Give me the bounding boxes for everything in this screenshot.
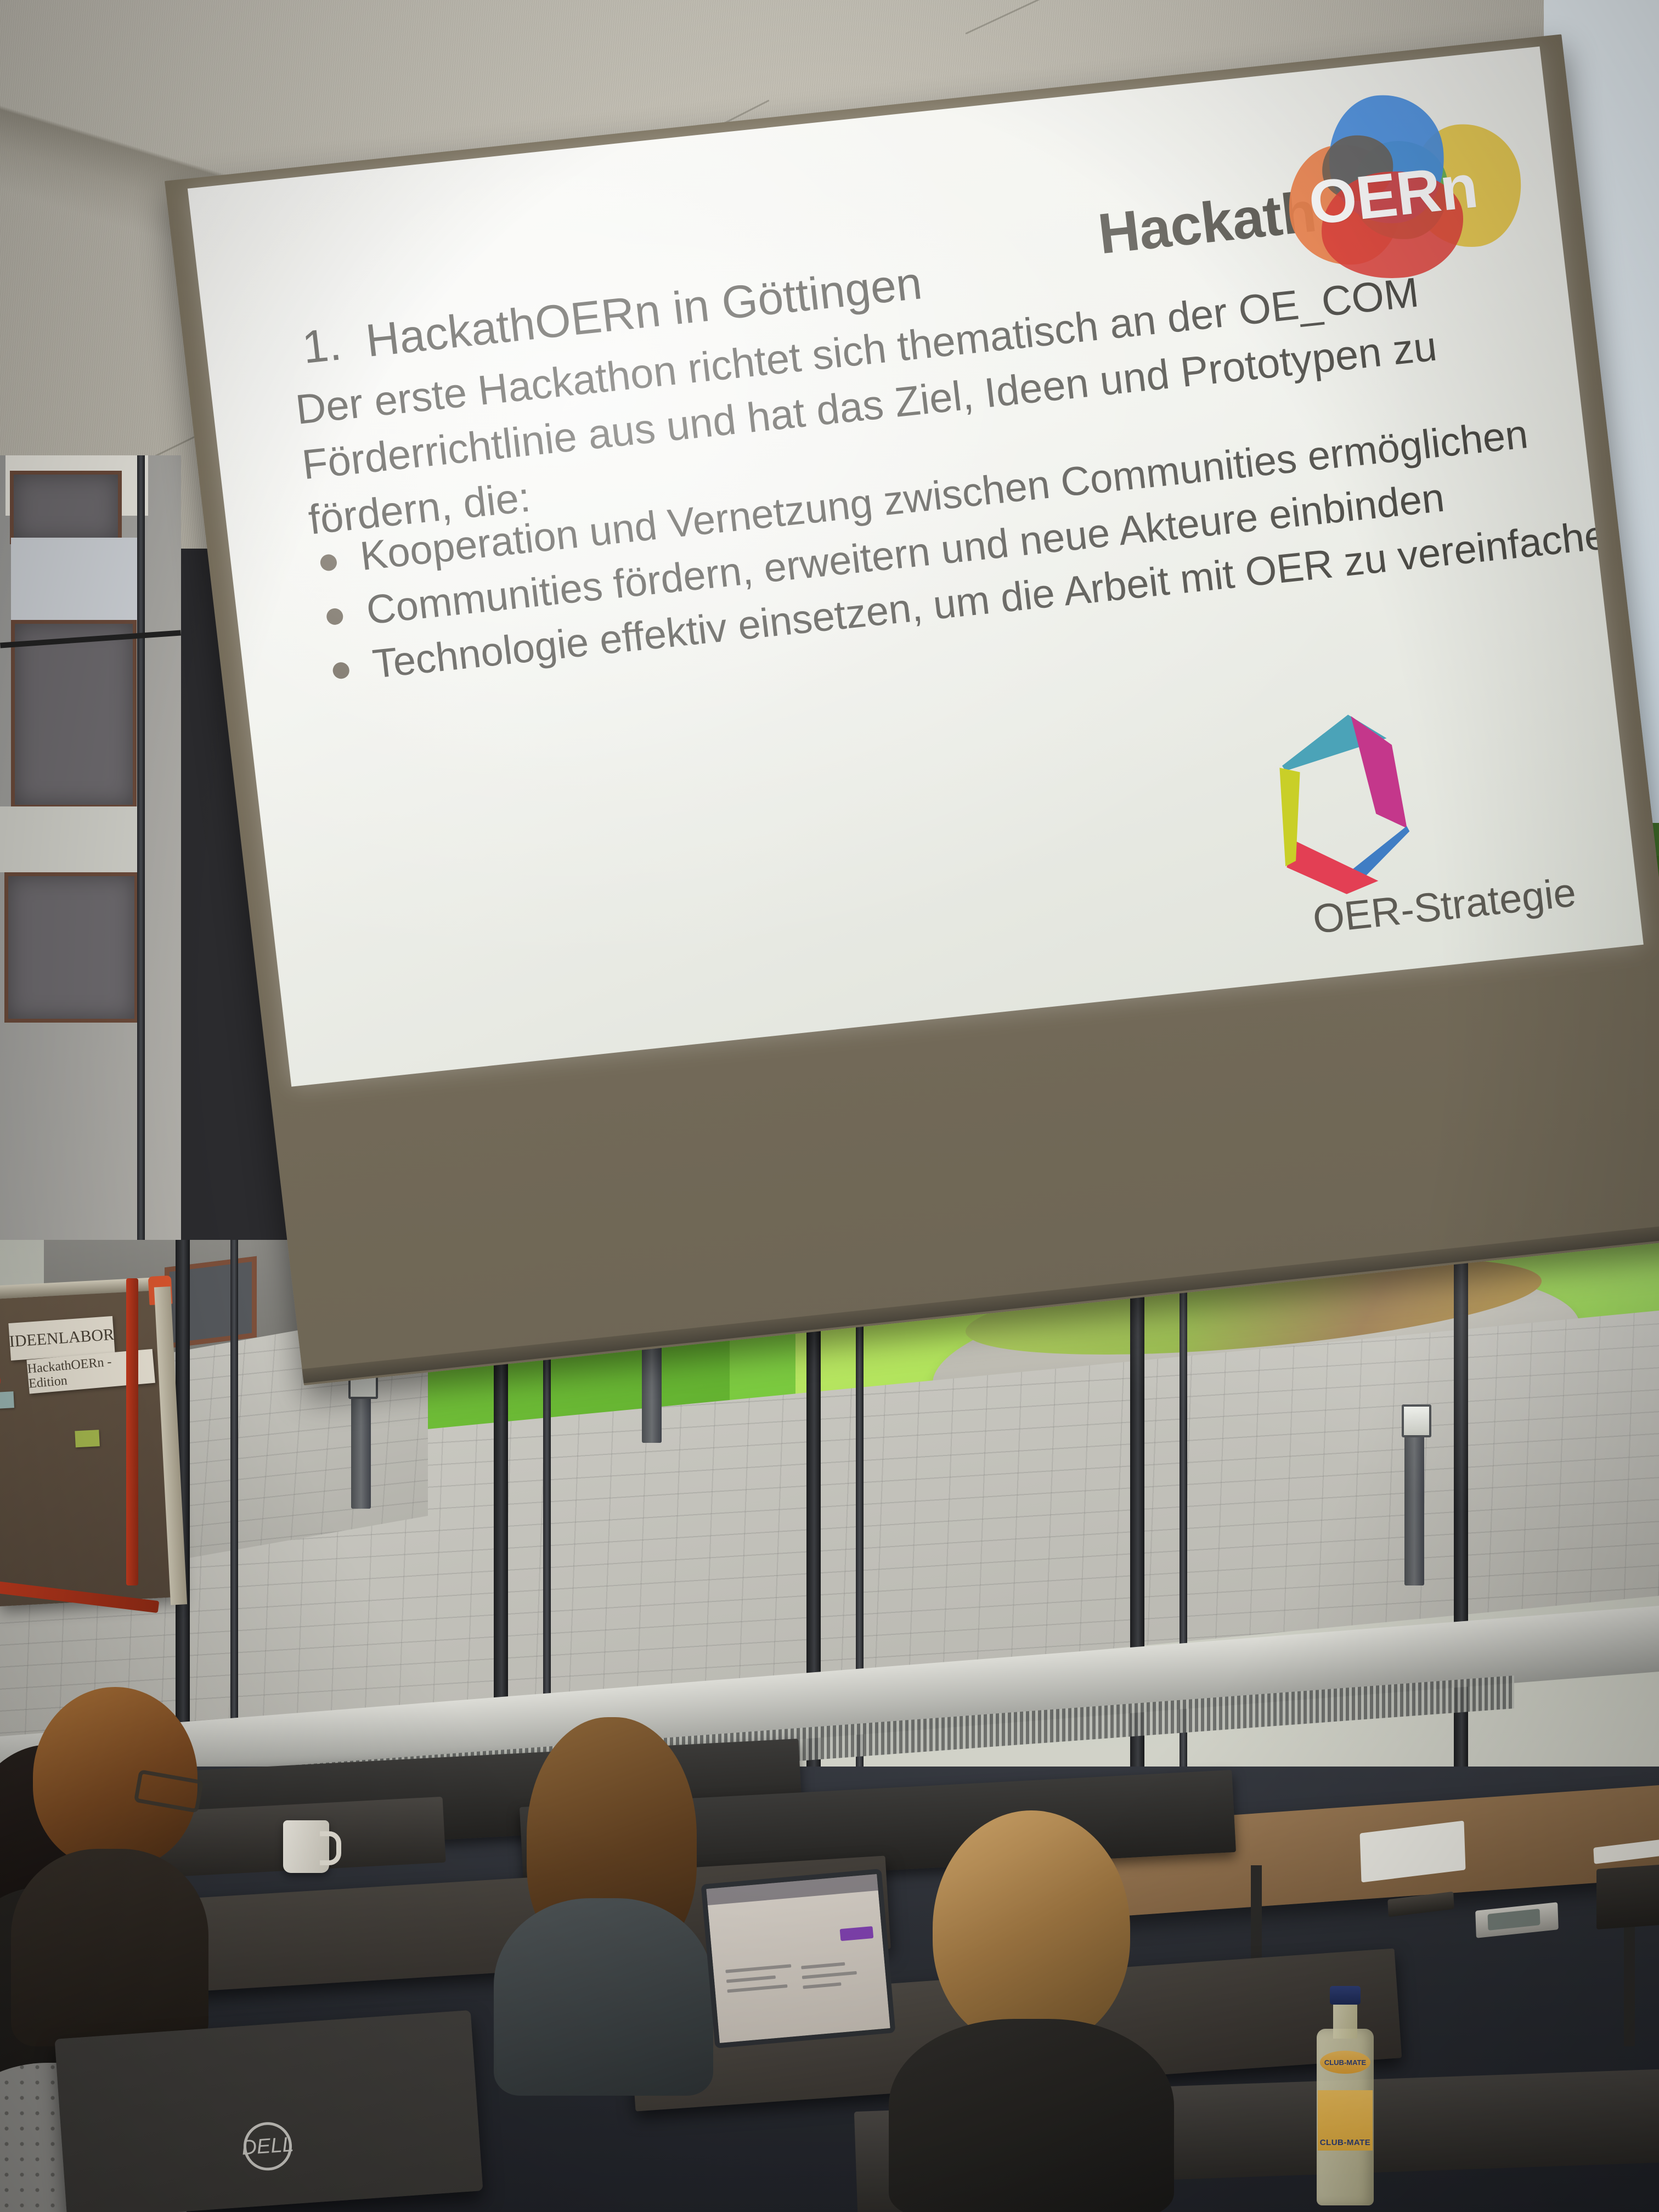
bottle-main-label: CLUB-MATE bbox=[1318, 2090, 1373, 2151]
oer-strategie-polygon bbox=[1244, 679, 1480, 902]
laptop-text-line bbox=[725, 1964, 791, 1973]
laptop-text-line bbox=[727, 1984, 787, 1993]
club-mate-bottle: CLUB-MATE CLUB-MATE bbox=[1317, 1986, 1374, 2205]
window-mullion bbox=[230, 1240, 238, 1788]
dell-logo: DELL bbox=[242, 2120, 294, 2172]
sticky-note bbox=[75, 1430, 100, 1447]
laptop-text-line bbox=[726, 1976, 776, 1983]
sticky-note bbox=[0, 1391, 14, 1409]
projected-slide-area: 1.HackathOERn in Göttingen Der erste Hac… bbox=[188, 47, 1644, 1087]
person-body-ponytail bbox=[494, 1898, 713, 2096]
closed-dell-laptop: DELL bbox=[54, 2010, 483, 2212]
laptop-text-line bbox=[801, 1962, 845, 1970]
open-laptop bbox=[701, 1869, 896, 2049]
hackathoern-logo: Hackath OERn bbox=[1085, 77, 1519, 284]
laptop-text-line bbox=[802, 1971, 857, 1979]
exterior-window-bottom bbox=[4, 872, 138, 1023]
person-body-with-glasses bbox=[11, 1849, 208, 2046]
flipchart-leg bbox=[126, 1278, 138, 1585]
bright-glass-panel bbox=[0, 806, 137, 872]
bottle-cap bbox=[1330, 1986, 1361, 2005]
window-mullion bbox=[137, 455, 145, 1333]
pinboard: IDEENLABOR HackathOERn - Edition bbox=[0, 1290, 178, 1607]
bottle-neck bbox=[1333, 2000, 1357, 2039]
presentation-slide: 1.HackathOERn in Göttingen Der erste Hac… bbox=[188, 47, 1644, 1087]
person-head-blond bbox=[933, 1810, 1130, 2046]
bollard-light bbox=[1404, 1404, 1424, 1585]
exterior-window-upper bbox=[10, 471, 122, 544]
exterior-window-lower bbox=[11, 620, 137, 809]
bright-glass-panel bbox=[11, 538, 143, 620]
hackathoern-word-dark: Hackath bbox=[1095, 179, 1319, 267]
laptop-accent-button bbox=[840, 1926, 874, 1941]
bollard-light bbox=[351, 1366, 371, 1509]
person-body-blond bbox=[889, 2019, 1174, 2212]
oer-strategie-logo: OER-Strategie bbox=[1244, 669, 1579, 951]
bollard-lamp bbox=[1402, 1404, 1431, 1437]
bottle-neck-label: CLUB-MATE bbox=[1320, 2051, 1370, 2074]
mug-handle bbox=[320, 1831, 341, 1865]
projection-screen: 1.HackathOERn in Göttingen Der erste Hac… bbox=[165, 34, 1659, 1380]
polygon-right-magenta bbox=[1351, 712, 1407, 833]
slide-title-number: 1. bbox=[300, 318, 344, 373]
laptop-text-line bbox=[803, 1982, 841, 1989]
laptop-screen bbox=[701, 1869, 896, 2049]
document-camera bbox=[1596, 1861, 1659, 1929]
coffee-mug bbox=[283, 1820, 329, 1873]
left-wall-windows bbox=[0, 455, 181, 1333]
photo-scene: 1.HackathOERn in Göttingen Der erste Hac… bbox=[0, 0, 1659, 2212]
red-magnet bbox=[0, 1373, 1, 1388]
